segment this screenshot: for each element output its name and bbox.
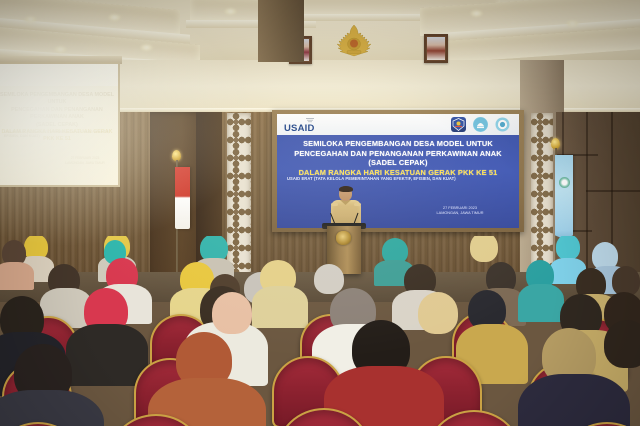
ceiling-column-center [258, 0, 304, 62]
attendee-head [418, 292, 458, 334]
attendee-body [0, 390, 104, 426]
slide-header: USAID [277, 114, 519, 135]
attendee-body [0, 262, 34, 290]
chair[interactable] [426, 410, 522, 426]
conference-hall-photo: SEMILOKA PENGEMBANGAN DESA MODEL UNTUK P… [0, 0, 640, 426]
slide-title: SEMILOKA PENGEMBANGAN DESA MODEL UNTUK P… [283, 139, 513, 177]
attendee-head [314, 264, 344, 294]
pkk-flag-seal [559, 177, 570, 188]
slide-title-line1: SEMILOKA PENGEMBANGAN DESA MODEL UNTUK [283, 139, 513, 149]
svg-text:USAID: USAID [284, 123, 315, 133]
chair[interactable] [108, 414, 204, 426]
projection-screen-left: SEMILOKA PENGEMBANGAN DESA MODEL UNTUK P… [0, 64, 118, 185]
pkk-flag [555, 155, 573, 233]
slide-date-value-left: 27 FEBRUARI 2023 [58, 156, 112, 161]
slide-title-line4-left: DALAM RANGKA HARI KESATUAN GERAK PKK KE … [0, 129, 114, 144]
attendee-head [604, 320, 640, 368]
attendee-body [518, 374, 630, 426]
slide-title-line2: PENCEGAHAN DAN PENANGANAN PERKAWINAN ANA… [283, 149, 513, 159]
lamongan-regency-logo [451, 117, 466, 132]
chair[interactable] [0, 422, 84, 426]
slide-date-block: 27 FEBRUARI 2023 LAMONGAN, JAWA TIMUR [415, 206, 505, 217]
vice-president-portrait [424, 34, 448, 63]
speaker-shoulder-left [331, 203, 338, 206]
slide-title-line3-left: (SADEL CEPAK) [0, 122, 114, 129]
chair[interactable] [276, 408, 372, 426]
indonesia-flag [175, 167, 190, 229]
slide-title-line1-left: SEMILOKA PENGEMBANGAN DESA MODEL UNTUK [0, 92, 114, 107]
slide-date-left: 27 FEBRUARI 2023 LAMONGAN, JAWA TIMUR [58, 156, 112, 165]
slide-title-line2-left: PENCEGAHAN DAN PENANGANAN PERKAWINAN ANA… [0, 107, 114, 122]
slide-subtitle: USAID ERAT (TATA KELOLA PEMERINTAHAN YAN… [287, 176, 512, 181]
kemendagri-logo [473, 117, 488, 132]
projection-screen: USAID [277, 114, 519, 228]
slide-location-left: LAMONGAN, JAWA TIMUR [58, 161, 112, 166]
slide-header-left [0, 64, 118, 86]
pkk-logo [495, 117, 510, 132]
slide-title-line3: (SADEL CEPAK) [283, 158, 513, 168]
slide-location: LAMONGAN, JAWA TIMUR [415, 211, 505, 216]
attendee-head [556, 236, 580, 260]
slide-subtitle-left: USAID ERAT (TATA KELOLA PEMERINTAHAN YAN… [4, 130, 112, 138]
speaker-shoulder-right [354, 203, 361, 206]
usaid-logo: USAID [284, 117, 336, 133]
attendee-head [470, 236, 498, 262]
speaker-hair [339, 186, 353, 193]
audience [0, 236, 640, 426]
chair[interactable] [560, 422, 640, 426]
attendee-body [518, 284, 564, 322]
attendee-head [212, 292, 252, 334]
slide-title-left: SEMILOKA PENGEMBANGAN DESA MODEL UNTUK P… [0, 92, 114, 144]
garuda-pancasila-emblem [332, 22, 376, 60]
